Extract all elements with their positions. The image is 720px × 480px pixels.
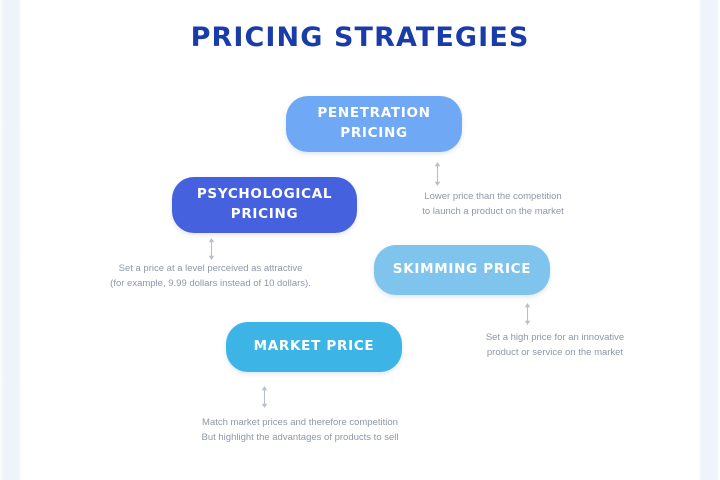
node-market-price-label: MARKET PRICE — [254, 337, 375, 357]
infographic-canvas: PRICING STRATEGIES PENETRATION PRICING L… — [0, 0, 720, 480]
caption-psychological-pricing: Set a price at a level perceived as attr… — [78, 262, 343, 291]
caption-market-price: Match market prices and therefore compet… — [160, 416, 440, 445]
node-psychological-pricing-label: PSYCHOLOGICAL PRICING — [197, 185, 332, 224]
caption-skimming-price: Set a high price for an innovative produ… — [448, 331, 662, 360]
connector-psychological — [207, 238, 216, 260]
node-penetration-pricing[interactable]: PENETRATION PRICING — [286, 96, 462, 152]
left-edge-strip — [0, 0, 22, 480]
node-penetration-pricing-label: PENETRATION PRICING — [317, 104, 430, 143]
node-market-price[interactable]: MARKET PRICE — [226, 322, 402, 372]
connector-penetration — [433, 162, 442, 186]
node-skimming-price-label: SKIMMING PRICE — [393, 260, 531, 280]
node-skimming-price[interactable]: SKIMMING PRICE — [374, 245, 550, 295]
right-edge-strip — [698, 0, 720, 480]
page-title: PRICING STRATEGIES — [0, 22, 720, 53]
node-psychological-pricing[interactable]: PSYCHOLOGICAL PRICING — [172, 177, 357, 233]
connector-market — [260, 386, 269, 408]
caption-penetration-pricing: Lower price than the competition to laun… — [388, 190, 598, 219]
connector-skimming — [523, 303, 532, 325]
